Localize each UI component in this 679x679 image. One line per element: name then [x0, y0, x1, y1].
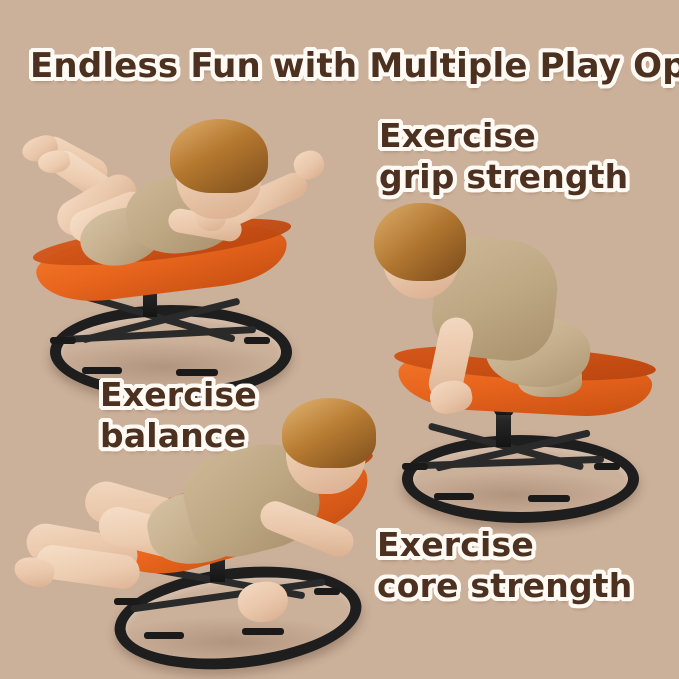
chair-base-ring	[109, 555, 366, 679]
base-foot	[242, 628, 284, 635]
base-foot	[594, 463, 620, 470]
base-foot	[434, 493, 474, 500]
label-exercise-grip-strength: Exercise grip strength	[379, 115, 628, 197]
base-foot	[144, 632, 184, 639]
base-foot	[82, 367, 122, 374]
product-feature-graphic: Endless Fun with Multiple Play Options	[0, 0, 679, 679]
page-title: Endless Fun with Multiple Play Options	[30, 44, 679, 88]
base-foot	[244, 337, 270, 344]
label-line-2: core strength	[377, 565, 632, 606]
label-line-1: Exercise	[377, 525, 534, 564]
child-hair	[282, 398, 376, 468]
base-foot	[114, 598, 140, 605]
label-line-2: grip strength	[379, 156, 628, 197]
photo-child-kneeling	[368, 185, 678, 505]
base-foot	[314, 588, 340, 595]
base-foot	[50, 337, 76, 344]
base-foot	[528, 495, 570, 502]
photo-child-sitting	[14, 392, 394, 678]
label-line-1: Exercise	[379, 116, 536, 155]
child-hair	[170, 119, 268, 193]
label-exercise-core-strength: Exercise core strength	[377, 524, 632, 606]
child-hair	[374, 203, 466, 281]
base-foot	[402, 463, 428, 470]
photo-child-lying-prone	[8, 105, 328, 395]
